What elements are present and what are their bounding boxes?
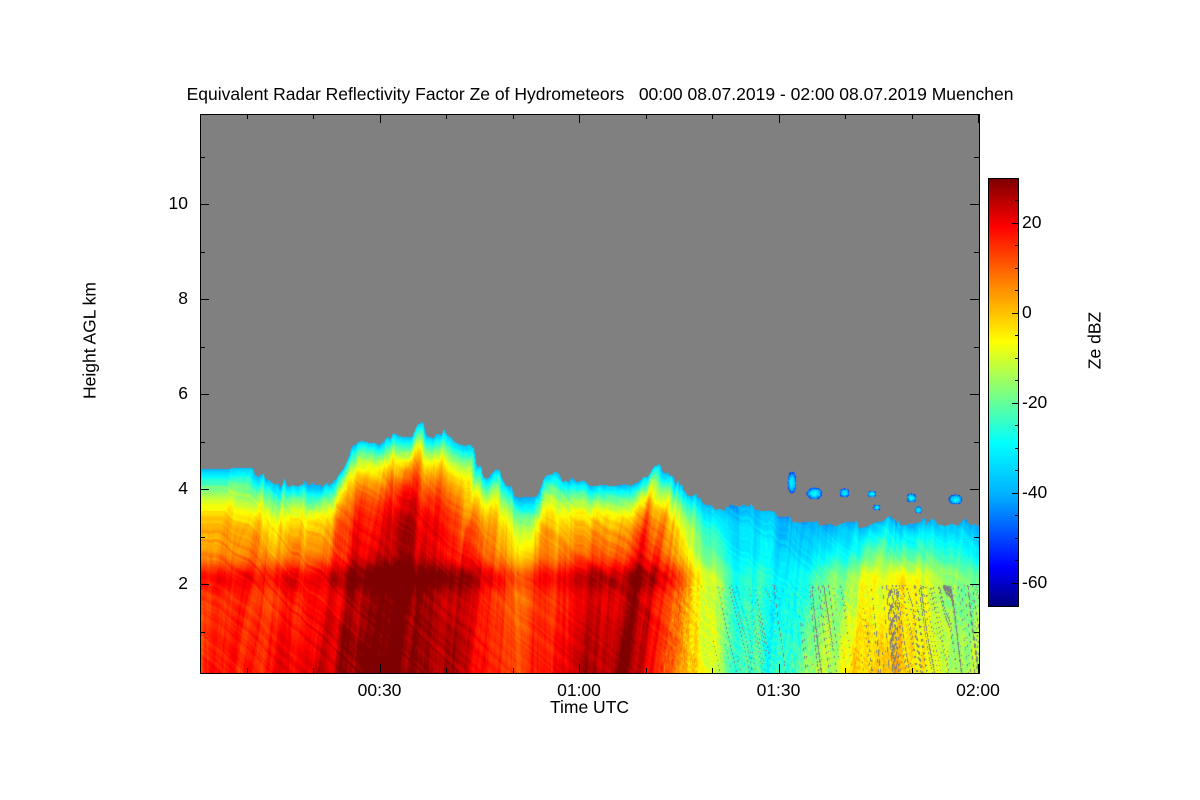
x-minor-tick bbox=[646, 114, 647, 119]
plot-area bbox=[200, 114, 980, 674]
colorbar-tick-mark bbox=[1012, 493, 1018, 494]
y-tick-mark-right bbox=[970, 204, 979, 205]
colorbar-tick-label: -40 bbox=[1022, 482, 1047, 503]
colorbar-minor-tick bbox=[1015, 290, 1018, 291]
y-axis-label: Height AGL km bbox=[80, 241, 101, 441]
x-minor-tick bbox=[513, 668, 514, 673]
colorbar-minor-tick bbox=[1015, 515, 1018, 516]
colorbar-gradient bbox=[989, 179, 1018, 606]
y-tick-label: 10 bbox=[128, 193, 188, 214]
colorbar-minor-tick bbox=[1015, 245, 1018, 246]
x-tick-mark-top bbox=[380, 114, 381, 123]
x-tick-mark bbox=[579, 664, 580, 673]
colorbar-minor-tick bbox=[1015, 380, 1018, 381]
colorbar-tick-label: 0 bbox=[1022, 302, 1032, 323]
colorbar-minor-tick bbox=[1015, 470, 1018, 471]
colorbar-minor-tick bbox=[1015, 425, 1018, 426]
x-minor-tick bbox=[446, 668, 447, 673]
page-title: Equivalent Radar Reflectivity Factor Ze … bbox=[0, 84, 1200, 105]
x-minor-tick bbox=[646, 668, 647, 673]
y-minor-tick bbox=[974, 537, 979, 538]
x-minor-tick bbox=[845, 114, 846, 119]
y-minor-tick bbox=[200, 632, 205, 633]
y-minor-tick bbox=[200, 157, 205, 158]
y-tick-mark-right bbox=[970, 299, 979, 300]
x-minor-tick bbox=[513, 114, 514, 119]
colorbar-tick-mark bbox=[1012, 313, 1018, 314]
x-minor-tick bbox=[313, 668, 314, 673]
x-tick-mark-top bbox=[978, 114, 979, 123]
y-minor-tick bbox=[974, 347, 979, 348]
y-tick-mark-right bbox=[970, 584, 979, 585]
y-tick-mark bbox=[200, 299, 209, 300]
x-minor-tick bbox=[313, 114, 314, 119]
y-minor-tick bbox=[974, 632, 979, 633]
colorbar-minor-tick bbox=[1015, 358, 1018, 359]
colorbar-tick-mark bbox=[1012, 403, 1018, 404]
x-tick-mark-top bbox=[579, 114, 580, 123]
y-tick-label: 2 bbox=[128, 573, 188, 594]
x-axis-label: Time UTC bbox=[200, 697, 979, 718]
colorbar-minor-tick bbox=[1015, 335, 1018, 336]
y-minor-tick bbox=[200, 347, 205, 348]
colorbar-tick-label: 20 bbox=[1022, 212, 1041, 233]
colorbar-tick-mark bbox=[1012, 223, 1018, 224]
y-tick-label: 6 bbox=[128, 383, 188, 404]
x-tick-mark bbox=[380, 664, 381, 673]
y-tick-mark-right bbox=[970, 394, 979, 395]
x-minor-tick bbox=[712, 668, 713, 673]
x-minor-tick bbox=[912, 668, 913, 673]
colorbar-tick-label: -20 bbox=[1022, 392, 1047, 413]
colorbar-minor-tick bbox=[1015, 538, 1018, 539]
colorbar-tick-mark bbox=[1012, 583, 1018, 584]
radar-figure: Equivalent Radar Reflectivity Factor Ze … bbox=[0, 0, 1200, 800]
y-tick-label: 8 bbox=[128, 288, 188, 309]
y-tick-label: 4 bbox=[128, 478, 188, 499]
colorbar-minor-tick bbox=[1015, 560, 1018, 561]
y-minor-tick bbox=[974, 157, 979, 158]
colorbar bbox=[988, 178, 1019, 607]
y-minor-tick bbox=[200, 537, 205, 538]
radar-heatmap bbox=[201, 115, 979, 673]
y-tick-mark bbox=[200, 394, 209, 395]
y-tick-mark bbox=[200, 204, 209, 205]
y-tick-mark bbox=[200, 489, 209, 490]
y-minor-tick bbox=[200, 442, 205, 443]
x-minor-tick bbox=[446, 114, 447, 119]
colorbar-minor-tick bbox=[1015, 178, 1018, 179]
x-minor-tick bbox=[912, 114, 913, 119]
x-minor-tick bbox=[712, 114, 713, 119]
x-minor-tick bbox=[247, 668, 248, 673]
y-minor-tick bbox=[974, 252, 979, 253]
colorbar-label: Ze dBZ bbox=[1085, 241, 1106, 441]
y-tick-mark bbox=[200, 584, 209, 585]
x-minor-tick bbox=[247, 114, 248, 119]
x-minor-tick bbox=[845, 668, 846, 673]
y-tick-mark-right bbox=[970, 489, 979, 490]
colorbar-tick-label: -60 bbox=[1022, 572, 1047, 593]
colorbar-minor-tick bbox=[1015, 448, 1018, 449]
colorbar-minor-tick bbox=[1015, 200, 1018, 201]
y-minor-tick bbox=[974, 442, 979, 443]
colorbar-minor-tick bbox=[1015, 268, 1018, 269]
x-tick-mark bbox=[779, 664, 780, 673]
x-tick-mark bbox=[978, 664, 979, 673]
y-minor-tick bbox=[200, 252, 205, 253]
x-tick-mark-top bbox=[779, 114, 780, 123]
